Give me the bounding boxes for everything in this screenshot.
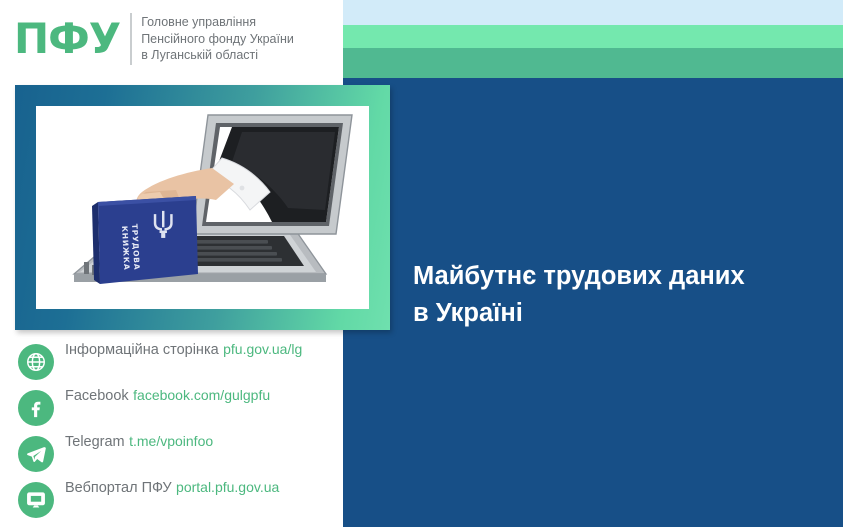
photo-frame: ТРУДОВА КНИЖКА — [15, 85, 390, 330]
monitor-icon — [18, 482, 54, 518]
contact-item-info-page[interactable]: Інформаційна сторінка pfu.gov.ua/lg — [18, 341, 338, 387]
pfu-logo: ПФУ — [14, 18, 120, 60]
contact-label: Інформаційна сторінка — [65, 342, 219, 358]
band-light-green — [343, 25, 843, 48]
org-line-1: Головне управління — [141, 14, 294, 31]
slide-root: ПФУ Головне управління Пенсійного фонду … — [0, 0, 843, 527]
globe-icon — [18, 344, 54, 380]
contact-label: Вебпортал ПФУ — [65, 480, 172, 496]
band-mid-green — [343, 48, 843, 78]
brand-header: ПФУ Головне управління Пенсійного фонду … — [0, 0, 343, 78]
org-name: Головне управління Пенсійного фонду Укра… — [141, 14, 294, 64]
band-light-blue — [343, 0, 843, 25]
contact-label: Telegram — [65, 434, 125, 450]
telegram-icon — [18, 436, 54, 472]
page-title-line-1: Майбутнє трудових даних — [413, 258, 813, 295]
page-title: Майбутнє трудових даних в Україні — [413, 258, 813, 332]
org-line-3: в Луганській області — [141, 47, 294, 64]
laptop-illustration: ТРУДОВА КНИЖКА — [36, 106, 369, 309]
contact-list: Інформаційна сторінка pfu.gov.ua/lg Face… — [18, 341, 338, 525]
logo-divider — [130, 13, 132, 65]
contact-item-telegram[interactable]: Telegram t.me/vpoinfoo — [18, 433, 338, 479]
contact-url[interactable]: portal.pfu.gov.ua — [176, 479, 279, 495]
contact-item-webportal[interactable]: Вебпортал ПФУ portal.pfu.gov.ua — [18, 479, 338, 525]
contact-label: Facebook — [65, 388, 129, 404]
org-line-2: Пенсійного фонду України — [141, 31, 294, 48]
page-title-line-2: в Україні — [413, 295, 813, 332]
photo-image: ТРУДОВА КНИЖКА — [36, 106, 369, 309]
facebook-icon — [18, 390, 54, 426]
contact-item-facebook[interactable]: Facebook facebook.com/gulgpfu — [18, 387, 338, 433]
contact-url[interactable]: pfu.gov.ua/lg — [223, 341, 302, 357]
contact-url[interactable]: t.me/vpoinfoo — [129, 433, 213, 449]
contact-url[interactable]: facebook.com/gulgpfu — [133, 387, 270, 403]
